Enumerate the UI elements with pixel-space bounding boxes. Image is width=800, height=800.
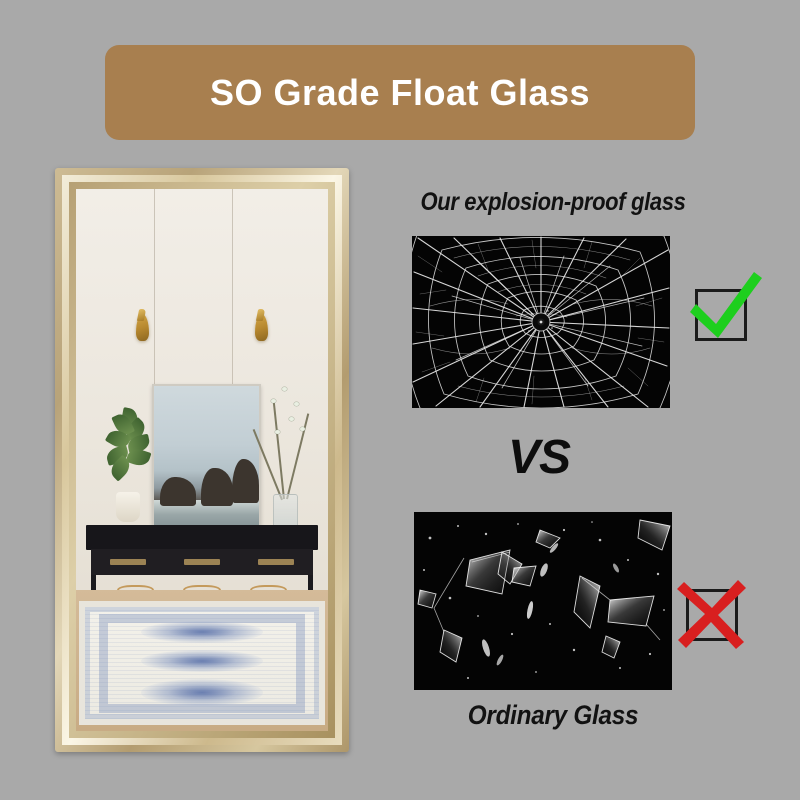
plant-pot bbox=[116, 492, 140, 523]
console-table-top bbox=[86, 525, 318, 550]
console-drawers bbox=[91, 549, 314, 575]
rug-medallion bbox=[141, 679, 263, 706]
reflected-area-rug bbox=[79, 601, 326, 725]
artwork-rock bbox=[232, 459, 260, 503]
artwork-rock bbox=[201, 468, 233, 506]
reflected-artwork bbox=[152, 384, 262, 534]
branch-bud bbox=[289, 417, 294, 421]
wall-sconce-right bbox=[255, 314, 268, 341]
product-infographic: SO Grade Float Glass bbox=[0, 0, 800, 800]
mirror-product-image bbox=[55, 168, 349, 752]
page-title: SO Grade Float Glass bbox=[210, 72, 590, 114]
reflected-floor bbox=[76, 590, 328, 731]
header-banner: SO Grade Float Glass bbox=[105, 45, 695, 140]
artwork-rock bbox=[160, 477, 196, 506]
versus-label: VS bbox=[484, 430, 594, 485]
branch-bud bbox=[300, 427, 305, 431]
drawer-pull bbox=[184, 559, 220, 565]
mirror-glass-reflection bbox=[76, 189, 328, 731]
ordinary-glass-label: Ordinary Glass bbox=[441, 700, 666, 731]
branch-stem bbox=[286, 414, 309, 500]
explosion-proof-label: Our explosion-proof glass bbox=[412, 188, 694, 217]
cross-box-frame bbox=[686, 589, 738, 641]
drawer-pull bbox=[258, 559, 294, 565]
ordinary-glass-photo bbox=[414, 512, 672, 690]
branch-bud bbox=[275, 430, 280, 434]
branch-bud bbox=[282, 387, 287, 391]
drawer-pull bbox=[110, 559, 146, 565]
reflected-branch-vase bbox=[260, 384, 310, 536]
explosion-proof-glass-photo bbox=[412, 236, 670, 408]
branch-bud bbox=[271, 399, 276, 403]
check-box-frame bbox=[695, 289, 747, 341]
branch-bud bbox=[294, 402, 299, 406]
reflected-potted-fern bbox=[101, 411, 154, 514]
